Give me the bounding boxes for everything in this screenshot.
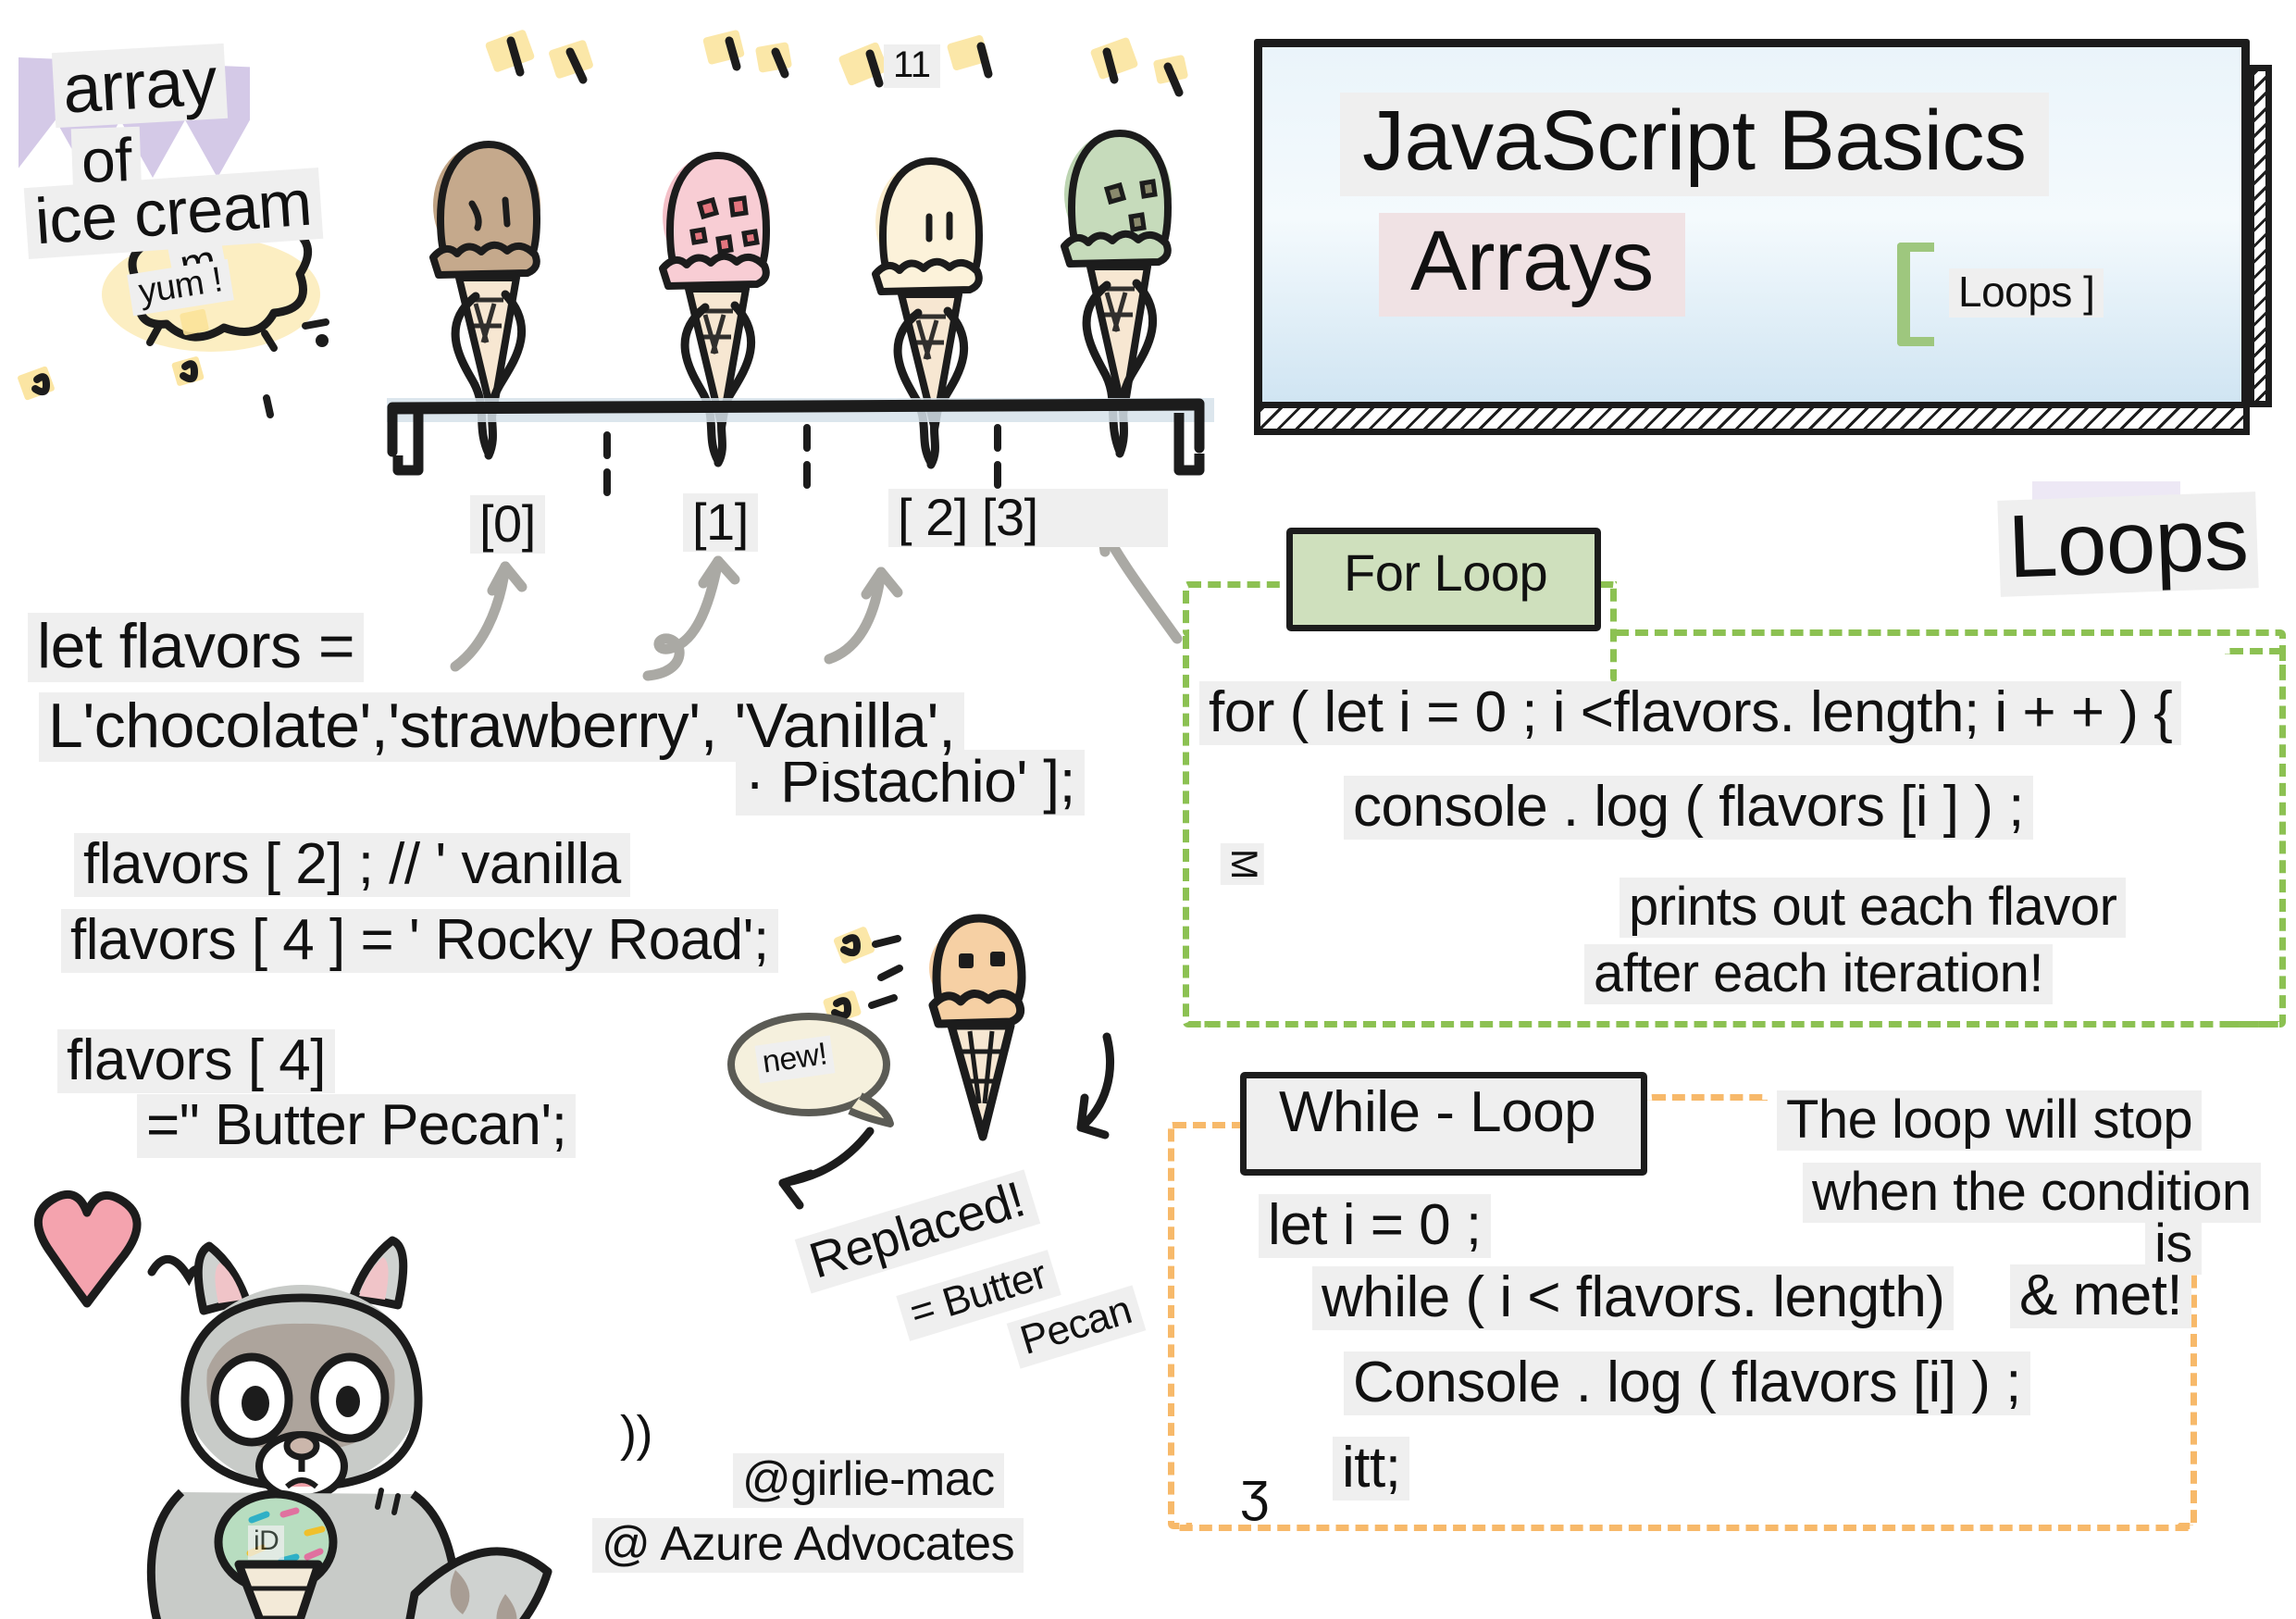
array-shelf (387, 398, 1214, 500)
green-bracket-icon (1897, 243, 1934, 346)
while-loop-note-line-1: The loop will stop (1777, 1090, 2202, 1151)
array-index-2-3: [ 2] [3] (888, 489, 1168, 547)
while-loop-code-line-1: let i = 0 ; (1259, 1194, 1491, 1258)
confetti-flecks (485, 29, 1189, 86)
raccoon-illustration (151, 1240, 548, 1619)
code-declaration: let flavors = (28, 613, 364, 682)
credit-org: @ Azure Advocates (592, 1518, 1024, 1573)
intro-eleven-mark: 11 (884, 44, 940, 88)
for-loop-note-line-2: after each iteration! (1584, 944, 2053, 1004)
for-loop-code-line-2: console . log ( flavors [i ] ) ; (1344, 776, 2033, 840)
title-card-spine (2248, 65, 2272, 407)
title-card-base (1254, 402, 2250, 435)
paren-doodle: )) (611, 1407, 662, 1463)
for-loop-code-line-1: for ( let i = 0 ; i <flavors. length; i … (1199, 681, 2181, 745)
credit-handle: @girlie-mac (733, 1453, 1004, 1508)
while-loop-closing-brace: ʒ (1231, 1463, 1278, 1523)
while-loop-region-top-right (1647, 1094, 1768, 1116)
code-reassign-line1: flavors [ 4] (57, 1029, 335, 1093)
code-assign-index-4: flavors [ 4 ] = ' Rocky Road'; (61, 909, 778, 973)
intro-yum-label: yum ! (127, 259, 234, 316)
code-access-index-2: flavors [ 2] ; // ' vanilla (74, 833, 630, 897)
loops-heading: Loops (1997, 492, 2259, 597)
while-loop-region-left (1168, 1122, 1192, 1529)
ice-cream-characters (433, 131, 1172, 465)
code-reassign-line2: =" Butter Pecan'; (137, 1094, 576, 1158)
for-loop-label: For Loop (1334, 544, 1557, 603)
for-loop-note-line-1: prints out each flavor (1620, 878, 2126, 938)
while-loop-code-line-4: itt; (1333, 1437, 1409, 1501)
array-index-0: [0] (470, 495, 545, 554)
for-loop-closing-mark: M (1221, 843, 1264, 885)
signature-id: iD (248, 1526, 284, 1560)
intro-word-array: array (52, 44, 228, 129)
while-loop-code-line-2: while ( i < flavors. length) (1312, 1266, 1954, 1330)
while-loop-code-line-3: Console . log ( flavors [i] ) ; (1344, 1351, 2030, 1415)
for-loop-region-right (2225, 648, 2286, 1027)
heart-icon (38, 1194, 137, 1303)
while-loop-label: While - Loop (1270, 1081, 1605, 1145)
new-ice-cream (823, 918, 1025, 1137)
page-subtitle: Arrays (1379, 213, 1685, 317)
code-array-items-line1: L'chocolate','strawberry', 'Vanilla', (39, 692, 964, 762)
new-badge-label: new! (755, 1036, 836, 1084)
sketchnote-canvas: array of ice cream m yum ! 11 [0] [1] [ … (0, 0, 2296, 1619)
while-loop-region-bottom (1175, 1507, 2193, 1531)
page-title: JavaScript Basics (1340, 93, 2049, 196)
array-index-1: [1] (683, 493, 758, 552)
for-loop-region-top-right (1610, 629, 2286, 681)
title-bracket-label: Loops ] (1949, 268, 2104, 318)
sparkle-strokes (511, 41, 1179, 93)
while-loop-note-met: & met! (2010, 1264, 2191, 1328)
